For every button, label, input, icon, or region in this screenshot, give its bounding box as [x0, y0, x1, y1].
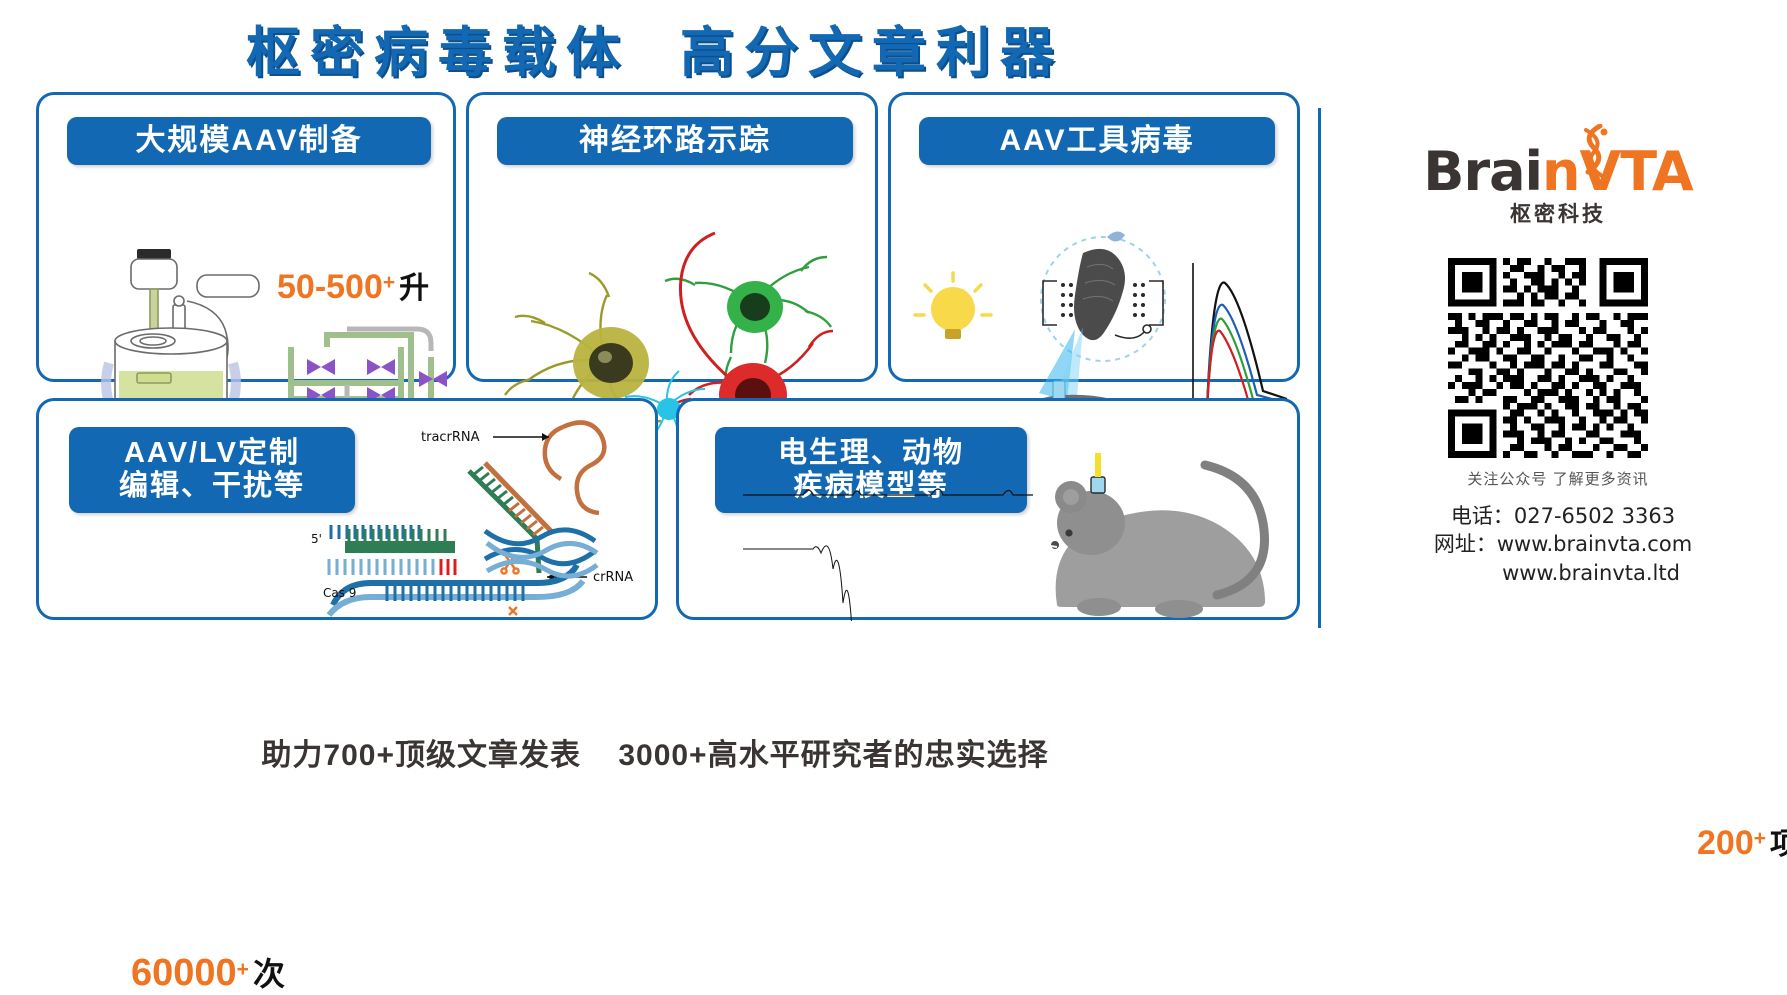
- phone-label: 电话：: [1451, 504, 1514, 528]
- stat-project-count: 60000+次: [131, 949, 285, 995]
- stat-volume: 50-500+升: [277, 263, 429, 307]
- footer-tagline: 助力700+顶级文章发表 3000+高水平研究者的忠实选择: [0, 730, 1310, 774]
- page-title: 枢密病毒载体 高分文章利器: [0, 8, 1310, 87]
- label-cas9: Cas 9: [323, 586, 356, 600]
- contact-phone: 电话：027-6502 3363: [1348, 502, 1778, 530]
- card-large-scale-aav: 大规模AAV制备: [36, 92, 456, 382]
- label-tracrrna: tracrRNA: [421, 430, 480, 445]
- stat-unit: 项: [1766, 828, 1787, 861]
- stat-number: 200: [1697, 824, 1754, 862]
- electrophysiology-mouse-illustration: [739, 417, 1299, 621]
- web-value-1[interactable]: www.brainvta.com: [1497, 532, 1692, 556]
- card-neural-circuit-tracing: 神经环路示踪 PRV、RV、HSV 、VSV: [466, 92, 878, 382]
- contact-info: 电话：027-6502 3363 网址：www.brainvta.com www…: [1348, 502, 1778, 587]
- contact-website-2: www.brainvta.ltd: [1348, 559, 1778, 587]
- vertical-divider: [1318, 108, 1321, 628]
- qr-code[interactable]: [1448, 258, 1648, 458]
- stat-number: 60000: [131, 952, 237, 994]
- card-header-label: AAV工具病毒: [919, 117, 1275, 165]
- poster-root: 枢密病毒载体 高分文章利器 大规模AAV制备: [0, 0, 1787, 792]
- logo-wordmark: BrainVTA: [1348, 140, 1768, 203]
- stat-unit: 升: [395, 272, 429, 305]
- stat-plus: +: [1754, 827, 1766, 850]
- logo-wordmark-first: Brai: [1423, 140, 1542, 203]
- logo-chinese-name: 枢密科技: [1348, 198, 1768, 228]
- stat-model-count: 200+项: [1697, 819, 1787, 863]
- card-aav-lv-customization: AAV/LV定制 编辑、干扰等: [36, 398, 658, 620]
- qr-caption: 关注公众号 了解更多资讯: [1348, 468, 1768, 489]
- card-header-label: 神经环路示踪: [497, 117, 853, 165]
- stat-plus: +: [237, 958, 249, 981]
- web-value-2[interactable]: www.brainvta.ltd: [1502, 561, 1680, 585]
- label-five-prime: 5': [311, 532, 322, 546]
- stat-number: 50-500: [277, 268, 383, 306]
- logo-wordmark-second: nVTA: [1542, 140, 1693, 203]
- card-electrophysiology-models: 电生理、动物 疾病模型等: [676, 398, 1300, 620]
- brainvta-logo: BrainVTA 枢密科技: [1348, 140, 1768, 250]
- card-header-label: AAV/LV定制 编辑、干扰等: [69, 427, 355, 513]
- card-header-label: 大规模AAV制备: [67, 117, 431, 165]
- stat-unit: 次: [249, 956, 285, 992]
- stat-plus: +: [383, 271, 395, 294]
- crispr-dna-detail: 5' Cas 9: [259, 519, 679, 619]
- web-label: 网址：: [1434, 532, 1497, 556]
- card-aav-tool-virus: AAV工具病毒 光遗传、钙成像、探针: [888, 92, 1300, 382]
- phone-value: 027-6502 3363: [1514, 504, 1675, 528]
- contact-website-1: 网址：www.brainvta.com: [1348, 530, 1778, 558]
